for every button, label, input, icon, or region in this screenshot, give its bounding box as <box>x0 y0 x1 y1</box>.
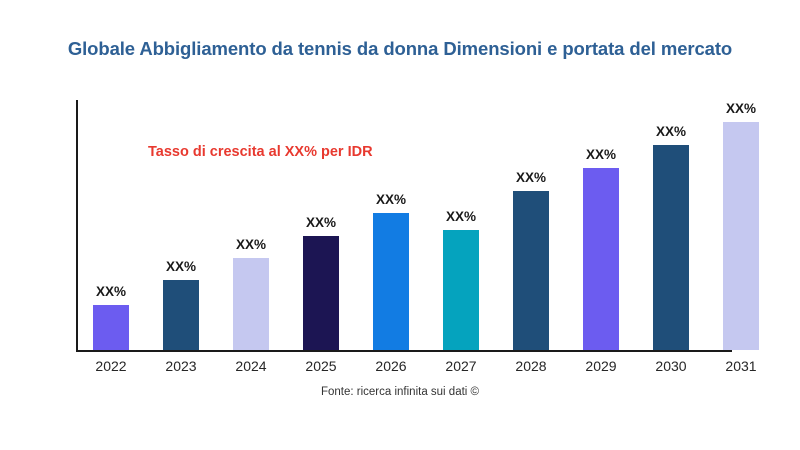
bar-value-label: XX% <box>636 124 706 139</box>
bar-value-label: XX% <box>706 101 776 116</box>
bar[interactable] <box>373 213 409 350</box>
bar[interactable] <box>513 191 549 350</box>
bar-value-label: XX% <box>216 237 286 252</box>
x-axis-tick-label: 2027 <box>426 358 496 374</box>
bar-value-label: XX% <box>426 209 496 224</box>
bar-value-label: XX% <box>146 259 216 274</box>
bar-group: XX%2027 <box>426 100 496 350</box>
bar[interactable] <box>163 280 199 350</box>
source-caption: Fonte: ricerca infinita sui dati © <box>0 386 800 398</box>
bar-group: XX%2030 <box>636 100 706 350</box>
bar-group: XX%2026 <box>356 100 426 350</box>
bar-group: XX%2029 <box>566 100 636 350</box>
x-axis-tick-label: 2023 <box>146 358 216 374</box>
bar-value-label: XX% <box>566 147 636 162</box>
x-axis-tick-label: 2028 <box>496 358 566 374</box>
bar[interactable] <box>583 168 619 350</box>
bar-value-label: XX% <box>496 170 566 185</box>
bars-layer: XX%2022XX%2023XX%2024XX%2025XX%2026XX%20… <box>76 100 800 350</box>
x-axis-tick-label: 2022 <box>76 358 146 374</box>
bar-group: XX%2023 <box>146 100 216 350</box>
x-axis-tick-label: 2026 <box>356 358 426 374</box>
x-axis-tick-label: 2024 <box>216 358 286 374</box>
bar-group: XX%2025 <box>286 100 356 350</box>
chart-title: Globale Abbigliamento da tennis da donna… <box>0 38 800 60</box>
plot-area: Tasso di crescita al XX% per IDR XX%2022… <box>76 100 800 350</box>
bar[interactable] <box>93 305 129 350</box>
x-axis-tick-label: 2030 <box>636 358 706 374</box>
bar-group: XX%2031 <box>706 100 776 350</box>
bar-group: XX%2024 <box>216 100 286 350</box>
x-axis-tick-label: 2029 <box>566 358 636 374</box>
bar-value-label: XX% <box>356 192 426 207</box>
bar[interactable] <box>723 122 759 350</box>
bar[interactable] <box>443 230 479 350</box>
bar-value-label: XX% <box>76 284 146 299</box>
bar[interactable] <box>303 236 339 350</box>
bar[interactable] <box>233 258 269 350</box>
x-axis-line <box>76 350 732 352</box>
chart-container: Globale Abbigliamento da tennis da donna… <box>0 0 800 450</box>
x-axis-tick-label: 2031 <box>706 358 776 374</box>
bar-group: XX%2022 <box>76 100 146 350</box>
bar-group: XX%2028 <box>496 100 566 350</box>
bar-value-label: XX% <box>286 215 356 230</box>
bar[interactable] <box>653 145 689 350</box>
x-axis-tick-label: 2025 <box>286 358 356 374</box>
